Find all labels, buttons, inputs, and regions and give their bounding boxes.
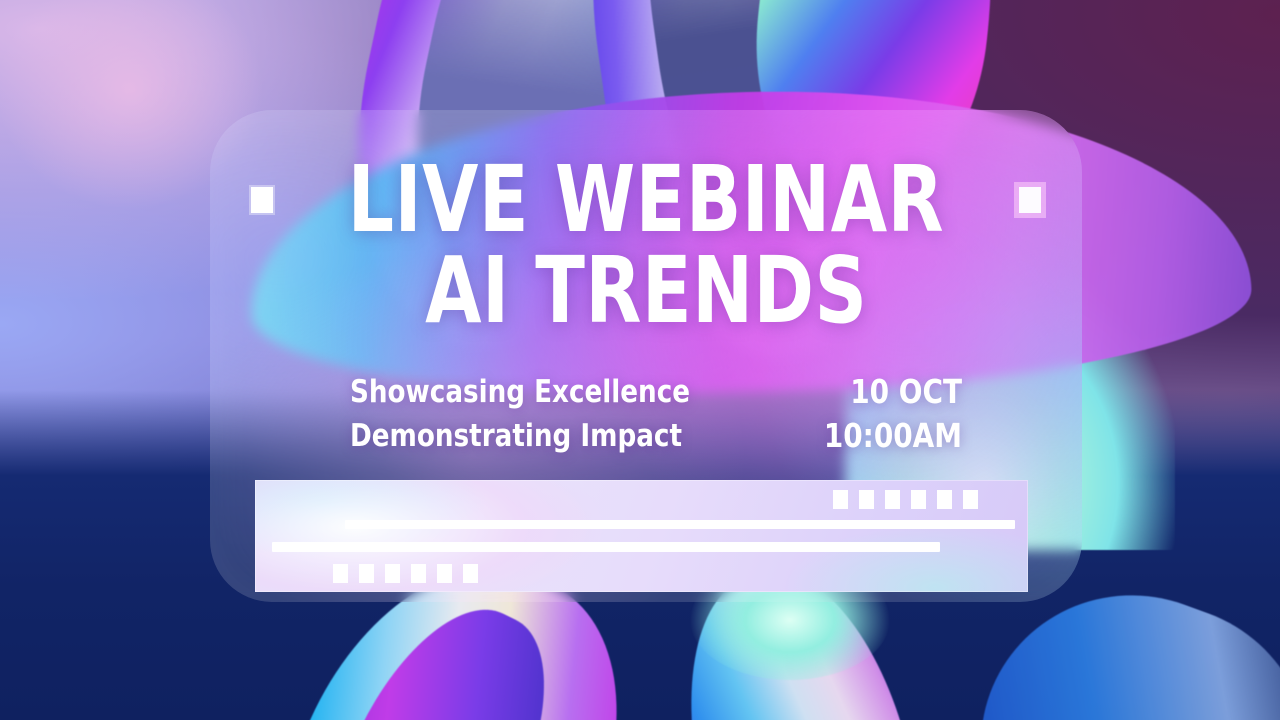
title-line-1-row: LIVE WEBINAR — [210, 158, 1082, 243]
square-marker-icon — [833, 490, 848, 509]
square-row-top — [833, 490, 978, 509]
square-marker-icon — [859, 490, 874, 509]
square-marker-icon — [385, 564, 400, 583]
square-marker-icon — [411, 564, 426, 583]
event-time: 10:00AM — [824, 414, 962, 458]
square-accent-left-icon — [251, 187, 273, 213]
square-marker-icon — [963, 490, 978, 509]
subtitle-line-2: Demonstrating Impact — [350, 414, 690, 458]
schedule-block: 10 OCT 10:00AM — [824, 370, 962, 458]
square-accent-right-icon — [1019, 187, 1041, 213]
subtitle-line-1: Showcasing Excellence — [350, 370, 690, 414]
poster-canvas: LIVE WEBINAR AI TRENDS Showcasing Excell… — [0, 0, 1280, 720]
title-line-2: AI TRENDS — [425, 249, 867, 334]
square-marker-icon — [463, 564, 478, 583]
subtitle-schedule-row: Showcasing Excellence Demonstrating Impa… — [350, 370, 962, 458]
square-marker-icon — [911, 490, 926, 509]
footer-panel — [255, 480, 1028, 592]
square-marker-icon — [885, 490, 900, 509]
title-line-2-row: AI TRENDS — [210, 243, 1082, 334]
divider-bar-2 — [272, 542, 940, 552]
title-line-1: LIVE WEBINAR — [348, 158, 944, 243]
square-marker-icon — [359, 564, 374, 583]
square-marker-icon — [937, 490, 952, 509]
square-row-bottom — [333, 564, 478, 583]
webinar-card: LIVE WEBINAR AI TRENDS Showcasing Excell… — [210, 110, 1082, 602]
event-date: 10 OCT — [824, 370, 962, 414]
divider-bar-1 — [345, 520, 1015, 529]
title-block: LIVE WEBINAR AI TRENDS — [210, 158, 1082, 333]
subtitle-block: Showcasing Excellence Demonstrating Impa… — [350, 370, 690, 458]
square-marker-icon — [437, 564, 452, 583]
square-marker-icon — [333, 564, 348, 583]
